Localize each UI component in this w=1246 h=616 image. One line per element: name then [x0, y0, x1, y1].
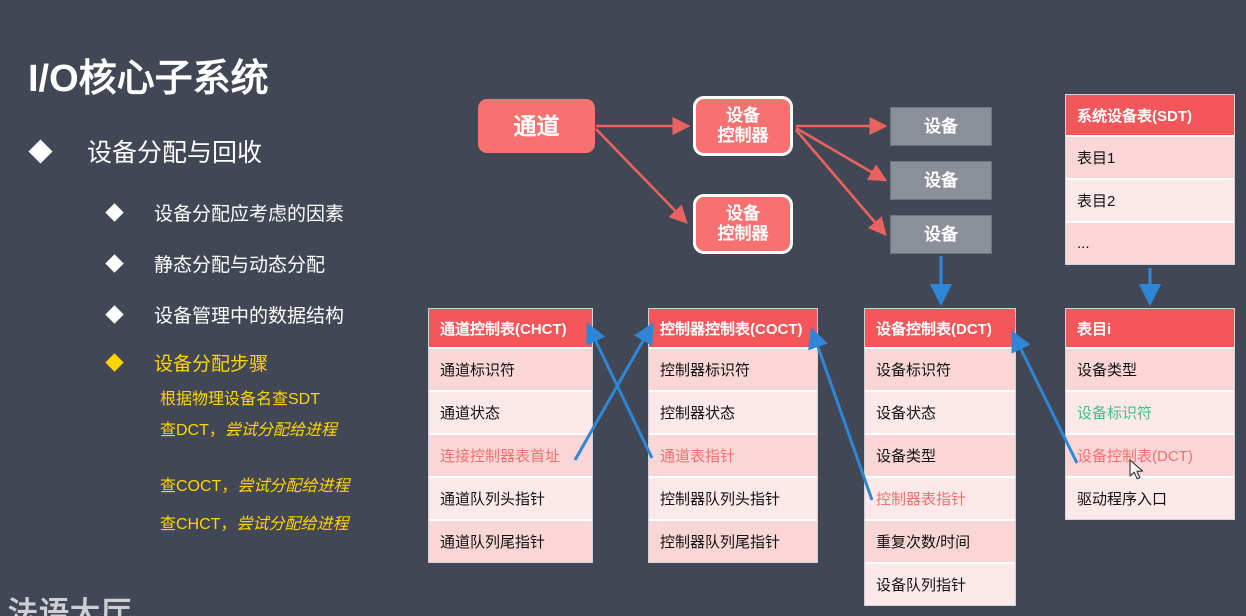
device-allocation-diagram: 通道 设备控制器 设备控制器 设备 设备 设备 系统设备表(SDT) 表目1 表… — [0, 0, 1246, 616]
table-row-highlight-green: 设备标识符 — [1066, 390, 1234, 433]
table-row: 表目1 — [1066, 135, 1234, 178]
table-row: ... — [1066, 221, 1234, 264]
table-row-highlight: 设备控制表(DCT) — [1066, 433, 1234, 476]
arrow-controller1-to-device3 — [796, 130, 885, 234]
node-device-3: 设备 — [890, 215, 992, 254]
table-chct: 通道控制表(CHCT) 通道标识符 通道状态 连接控制器表首址 通道队列头指针 … — [428, 308, 593, 563]
arrow-coct-chan-to-chct — [588, 325, 652, 458]
arrow-channel-to-controller2 — [596, 129, 686, 222]
node-device-controller-1: 设备控制器 — [693, 96, 793, 156]
table-row: 设备状态 — [865, 390, 1015, 433]
table-row: 控制器标识符 — [649, 347, 817, 390]
table-row: 驱动程序入口 — [1066, 476, 1234, 519]
connector-arrows — [0, 0, 1246, 616]
table-dct: 设备控制表(DCT) 设备标识符 设备状态 设备类型 控制器表指针 重复次数/时… — [864, 308, 1016, 606]
arrow-controller1-to-device2 — [796, 128, 885, 180]
table-header: 系统设备表(SDT) — [1066, 95, 1234, 135]
table-item-i: 表目i 设备类型 设备标识符 设备控制表(DCT) 驱动程序入口 — [1065, 308, 1235, 520]
table-row: 通道标识符 — [429, 347, 592, 390]
node-device-2: 设备 — [890, 161, 992, 200]
table-row: 设备标识符 — [865, 347, 1015, 390]
table-row: 设备队列指针 — [865, 562, 1015, 605]
table-row: 设备类型 — [865, 433, 1015, 476]
table-row: 重复次数/时间 — [865, 519, 1015, 562]
table-coct: 控制器控制表(COCT) 控制器标识符 控制器状态 通道表指针 控制器队列头指针… — [648, 308, 818, 563]
table-row: 控制器队列尾指针 — [649, 519, 817, 562]
table-row: 通道队列尾指针 — [429, 519, 592, 562]
node-label: 设备控制器 — [718, 204, 769, 243]
table-row: 控制器队列头指针 — [649, 476, 817, 519]
node-device-controller-2: 设备控制器 — [693, 194, 793, 254]
mouse-cursor-icon — [1129, 459, 1147, 483]
table-row: 控制器状态 — [649, 390, 817, 433]
table-header: 通道控制表(CHCT) — [429, 309, 592, 347]
table-row: 表目2 — [1066, 178, 1234, 221]
node-label: 设备控制器 — [718, 106, 769, 145]
table-row: 通道状态 — [429, 390, 592, 433]
table-header: 控制器控制表(COCT) — [649, 309, 817, 347]
table-row-highlight: 连接控制器表首址 — [429, 433, 592, 476]
table-header: 表目i — [1066, 309, 1234, 347]
table-row: 设备类型 — [1066, 347, 1234, 390]
node-channel: 通道 — [478, 99, 595, 153]
table-row-highlight: 通道表指针 — [649, 433, 817, 476]
node-device-1: 设备 — [890, 107, 992, 146]
table-row-highlight: 控制器表指针 — [865, 476, 1015, 519]
table-sdt: 系统设备表(SDT) 表目1 表目2 ... — [1065, 94, 1235, 265]
table-header: 设备控制表(DCT) — [865, 309, 1015, 347]
arrow-dct-ctrl-to-coct — [812, 330, 872, 500]
slide-canvas: I/O核心子系统 设备分配与回收 设备分配应考虑的因素 静态分配与动态分配 设备… — [0, 0, 1246, 616]
table-row: 通道队列头指针 — [429, 476, 592, 519]
